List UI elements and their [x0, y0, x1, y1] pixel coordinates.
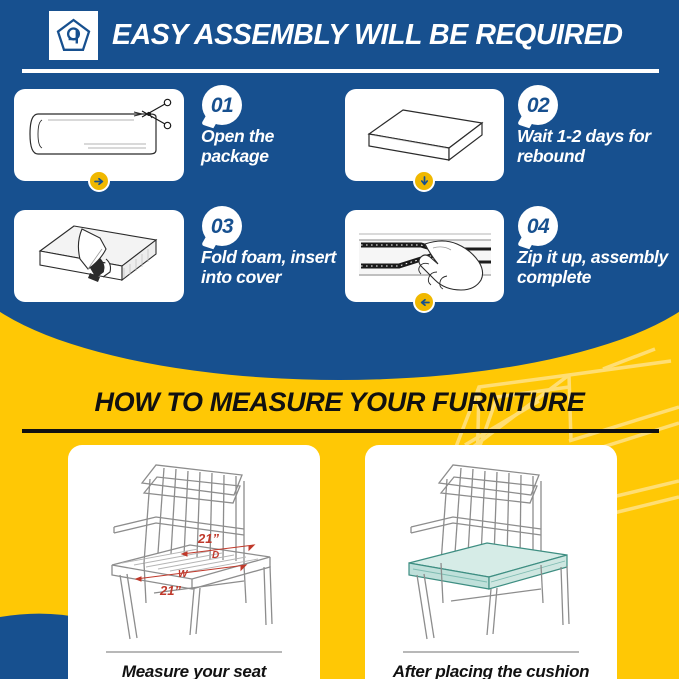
arrow-down-icon — [413, 170, 435, 192]
measure-card-2-caption: After placing the cushion — [375, 661, 607, 679]
step-01-illustration — [14, 89, 184, 181]
chair-with-dimension-labels: 21” D W 21” — [68, 445, 320, 650]
chair-with-teal-cushion — [365, 445, 617, 650]
measure-card-1: 21” D W 21” Measure your seat dimensions… — [68, 445, 320, 679]
house-pentagon-icon — [49, 11, 98, 60]
step-04-illustration — [345, 210, 504, 302]
step-02-number-bubble: 02 — [518, 85, 558, 125]
step-04-number: 04 — [527, 216, 549, 237]
measure-divider — [22, 429, 659, 433]
step-03-number: 03 — [211, 216, 233, 237]
step-02-label: Wait 1-2 days for rebound — [517, 127, 679, 166]
arrow-left-icon — [413, 291, 435, 313]
step-03-illustration — [14, 210, 184, 302]
step-02-number: 02 — [527, 95, 549, 116]
page-title: EASY ASSEMBLY WILL BE REQUIRED — [112, 12, 623, 58]
depth-letter-label: D — [212, 550, 219, 561]
card-1-divider — [106, 651, 282, 653]
arrow-right-icon — [88, 170, 110, 192]
header-divider — [22, 69, 659, 73]
card-2-divider — [403, 651, 579, 653]
width-letter-label: W — [178, 569, 189, 580]
header: EASY ASSEMBLY WILL BE REQUIRED — [0, 0, 679, 62]
step-03-label: Fold foam, insert into cover — [201, 248, 361, 287]
step-02-illustration — [345, 89, 504, 181]
step-03-number-bubble: 03 — [202, 206, 242, 246]
step-04-label: Zip it up, assembly complete — [517, 248, 679, 287]
blue-top-panel: EASY ASSEMBLY WILL BE REQUIRED — [0, 0, 679, 380]
measure-card-2: After placing the cushion — [365, 445, 617, 679]
depth-value-label: 21” — [197, 531, 219, 546]
step-01-number-bubble: 01 — [202, 85, 242, 125]
step-01-number: 01 — [211, 95, 233, 116]
measure-section: HOW TO MEASURE YOUR FURNITURE — [0, 345, 679, 679]
infographic-poster: EASY ASSEMBLY WILL BE REQUIRED — [0, 0, 679, 679]
width-value-label: 21” — [159, 583, 181, 598]
measure-card-1-caption: Measure your seat dimensions as shown — [78, 661, 310, 679]
step-04-number-bubble: 04 — [518, 206, 558, 246]
measure-title: HOW TO MEASURE YOUR FURNITURE — [0, 387, 679, 418]
step-01-label: Open the package — [201, 127, 341, 166]
